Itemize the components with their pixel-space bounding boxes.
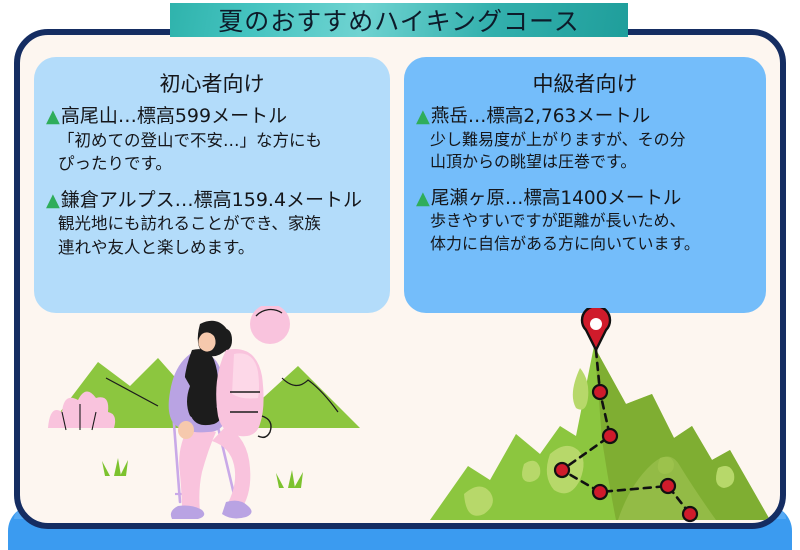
entry-tsubakurodake-head: ▲燕岳…標高2,763メートル [416, 105, 754, 129]
map-pin-icon [582, 308, 610, 350]
entry-kamakura-alps: ▲鎌倉アルプス…標高159.4メートル 観光地にも訪れることができ、家族 連れや… [46, 189, 378, 260]
entry-kamakura-alps-title: 鎌倉アルプス…標高159.4メートル [61, 189, 362, 211]
entry-takaosan-line1: 「初めての登山で不安…」な方にも [58, 129, 378, 152]
triangle-bullet-icon: ▲ [416, 188, 430, 209]
entry-kamakura-alps-line1: 観光地にも訪れることができ、家族 [58, 212, 378, 235]
entry-takaosan: ▲高尾山…標高599メートル 「初めての登山で不安…」な方にも ぴったりです。 [46, 105, 378, 176]
hiker-back-leg [212, 426, 250, 508]
entry-takaosan-line2: ぴったりです。 [58, 152, 378, 175]
sun-icon [250, 306, 290, 344]
hiker-face [198, 332, 215, 351]
entry-tsubakurodake-title: 燕岳…標高2,763メートル [431, 106, 650, 127]
grass-tuft-left [102, 458, 128, 476]
entry-ozegahara: ▲尾瀬ヶ原…標高1400メートル 歩きやすいですが距離が長いため、 体力に自信が… [416, 187, 754, 256]
entry-kamakura-alps-head: ▲鎌倉アルプス…標高159.4メートル [46, 189, 378, 213]
triangle-bullet-icon: ▲ [46, 190, 60, 211]
mountain-trail-svg [420, 308, 780, 523]
hiker-illustration [30, 306, 400, 521]
mountain-highlight-f [658, 457, 674, 474]
hiker-hand [178, 421, 194, 439]
hiker-scene-svg [30, 306, 400, 521]
waypoint-dot-3 [555, 463, 569, 477]
entry-tsubakurodake-line1: 少し難易度が上がりますが、その分 [430, 129, 754, 152]
entry-takaosan-head: ▲高尾山…標高599メートル [46, 105, 378, 129]
entry-tsubakurodake-line2: 山頂からの眺望は圧巻です。 [430, 151, 754, 174]
mountain-trail-illustration [420, 308, 780, 523]
triangle-bullet-icon: ▲ [416, 106, 430, 127]
card-beginner-title: 初心者向け [46, 68, 378, 98]
card-beginner: 初心者向け ▲高尾山…標高599メートル 「初めての登山で不安…」な方にも ぴっ… [34, 57, 390, 313]
poster-frame: 初心者向け ▲高尾山…標高599メートル 「初めての登山で不安…」な方にも ぴっ… [14, 29, 786, 529]
waypoint-dot-5 [661, 479, 675, 493]
hiker-back-shoe [222, 501, 252, 519]
title-banner: 夏のおすすめハイキングコース [170, 3, 628, 37]
title-banner-text: 夏のおすすめハイキングコース [218, 2, 580, 38]
waypoint-dot-2 [603, 429, 617, 443]
entry-kamakura-alps-line2: 連れや友人と楽しめます。 [58, 236, 378, 259]
grass-tuft-right [276, 470, 303, 488]
entry-ozegahara-title: 尾瀬ヶ原…標高1400メートル [431, 188, 682, 209]
hiker-hip [192, 405, 221, 425]
entry-ozegahara-line1: 歩きやすいですが距離が長いため、 [430, 210, 754, 233]
card-intermediate-title: 中級者向け [416, 68, 754, 98]
card-intermediate: 中級者向け ▲燕岳…標高2,763メートル 少し難易度が上がりますが、その分 山… [404, 57, 766, 313]
mountain-highlight-d [573, 368, 589, 410]
hiker-bun [215, 328, 232, 352]
entry-tsubakurodake: ▲燕岳…標高2,763メートル 少し難易度が上がりますが、その分 山頂からの眺望… [416, 105, 754, 174]
poster-root: 初心者向け ▲高尾山…標高599メートル 「初めての登山で不安…」な方にも ぴっ… [0, 0, 800, 550]
entry-ozegahara-head: ▲尾瀬ヶ原…標高1400メートル [416, 187, 754, 211]
entry-takaosan-title: 高尾山…標高599メートル [61, 105, 287, 127]
triangle-bullet-icon: ▲ [46, 106, 60, 127]
waypoint-dot-4 [593, 485, 607, 499]
waypoint-dot-1 [593, 385, 607, 399]
waypoint-dot-6 [683, 507, 697, 521]
entry-ozegahara-line2: 体力に自信がある方に向いています。 [430, 233, 754, 256]
